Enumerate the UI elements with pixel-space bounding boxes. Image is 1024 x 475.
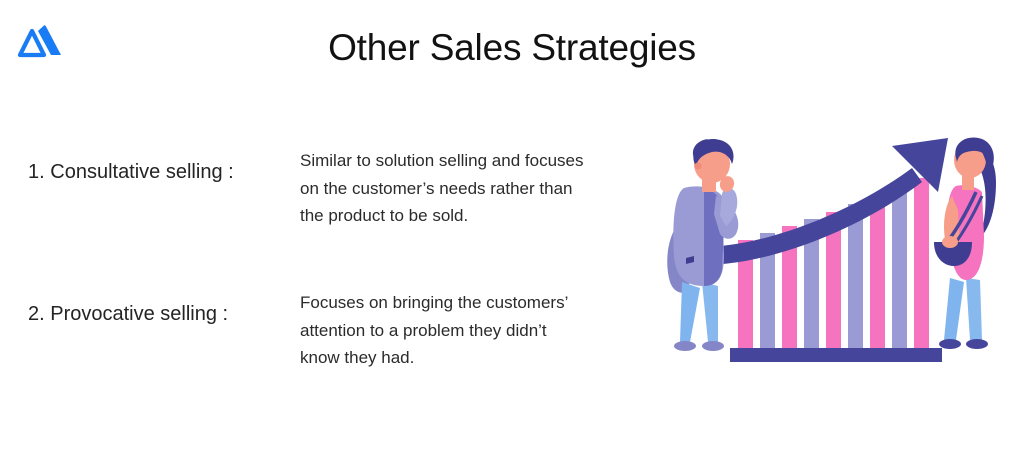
- strategy-description-2: Focuses on bringing the customers’ atten…: [300, 267, 650, 372]
- strategy-list: 1. Consultative selling : Similar to sol…: [0, 125, 700, 387]
- man-thinking-figure: [667, 139, 738, 351]
- strategy-number-2: 2.: [28, 301, 45, 328]
- bar-chart-bars: [738, 178, 929, 350]
- list-item: 2. Provocative selling : Focuses on brin…: [0, 267, 700, 387]
- slide-root: Other Sales Strategies 1. Consultative s…: [0, 0, 1024, 475]
- description-line: on the customer’s needs rather than: [300, 175, 650, 203]
- list-item: 1. Consultative selling : Similar to sol…: [0, 125, 700, 245]
- page-title: Other Sales Strategies: [0, 28, 1024, 69]
- strategy-label-1: 1. Consultative selling :: [0, 125, 300, 186]
- description-line: Focuses on bringing the customers’: [300, 289, 650, 317]
- strategy-label-2: 2. Provocative selling :: [0, 267, 300, 328]
- description-line: Similar to solution selling and focuses: [300, 147, 650, 175]
- strategy-description-1: Similar to solution selling and focuses …: [300, 125, 650, 230]
- description-line: know they had.: [300, 344, 650, 372]
- strategy-name-1: Consultative selling :: [50, 161, 233, 183]
- chart-baseline-bar: [730, 348, 942, 362]
- description-line: the product to be sold.: [300, 202, 650, 230]
- growth-chart-with-people-illustration: [660, 130, 1020, 370]
- strategy-name-2: Provocative selling :: [50, 303, 228, 325]
- woman-with-bag-figure: [934, 138, 996, 349]
- strategy-number-1: 1.: [28, 159, 45, 186]
- description-line: attention to a problem they didn’t: [300, 317, 650, 345]
